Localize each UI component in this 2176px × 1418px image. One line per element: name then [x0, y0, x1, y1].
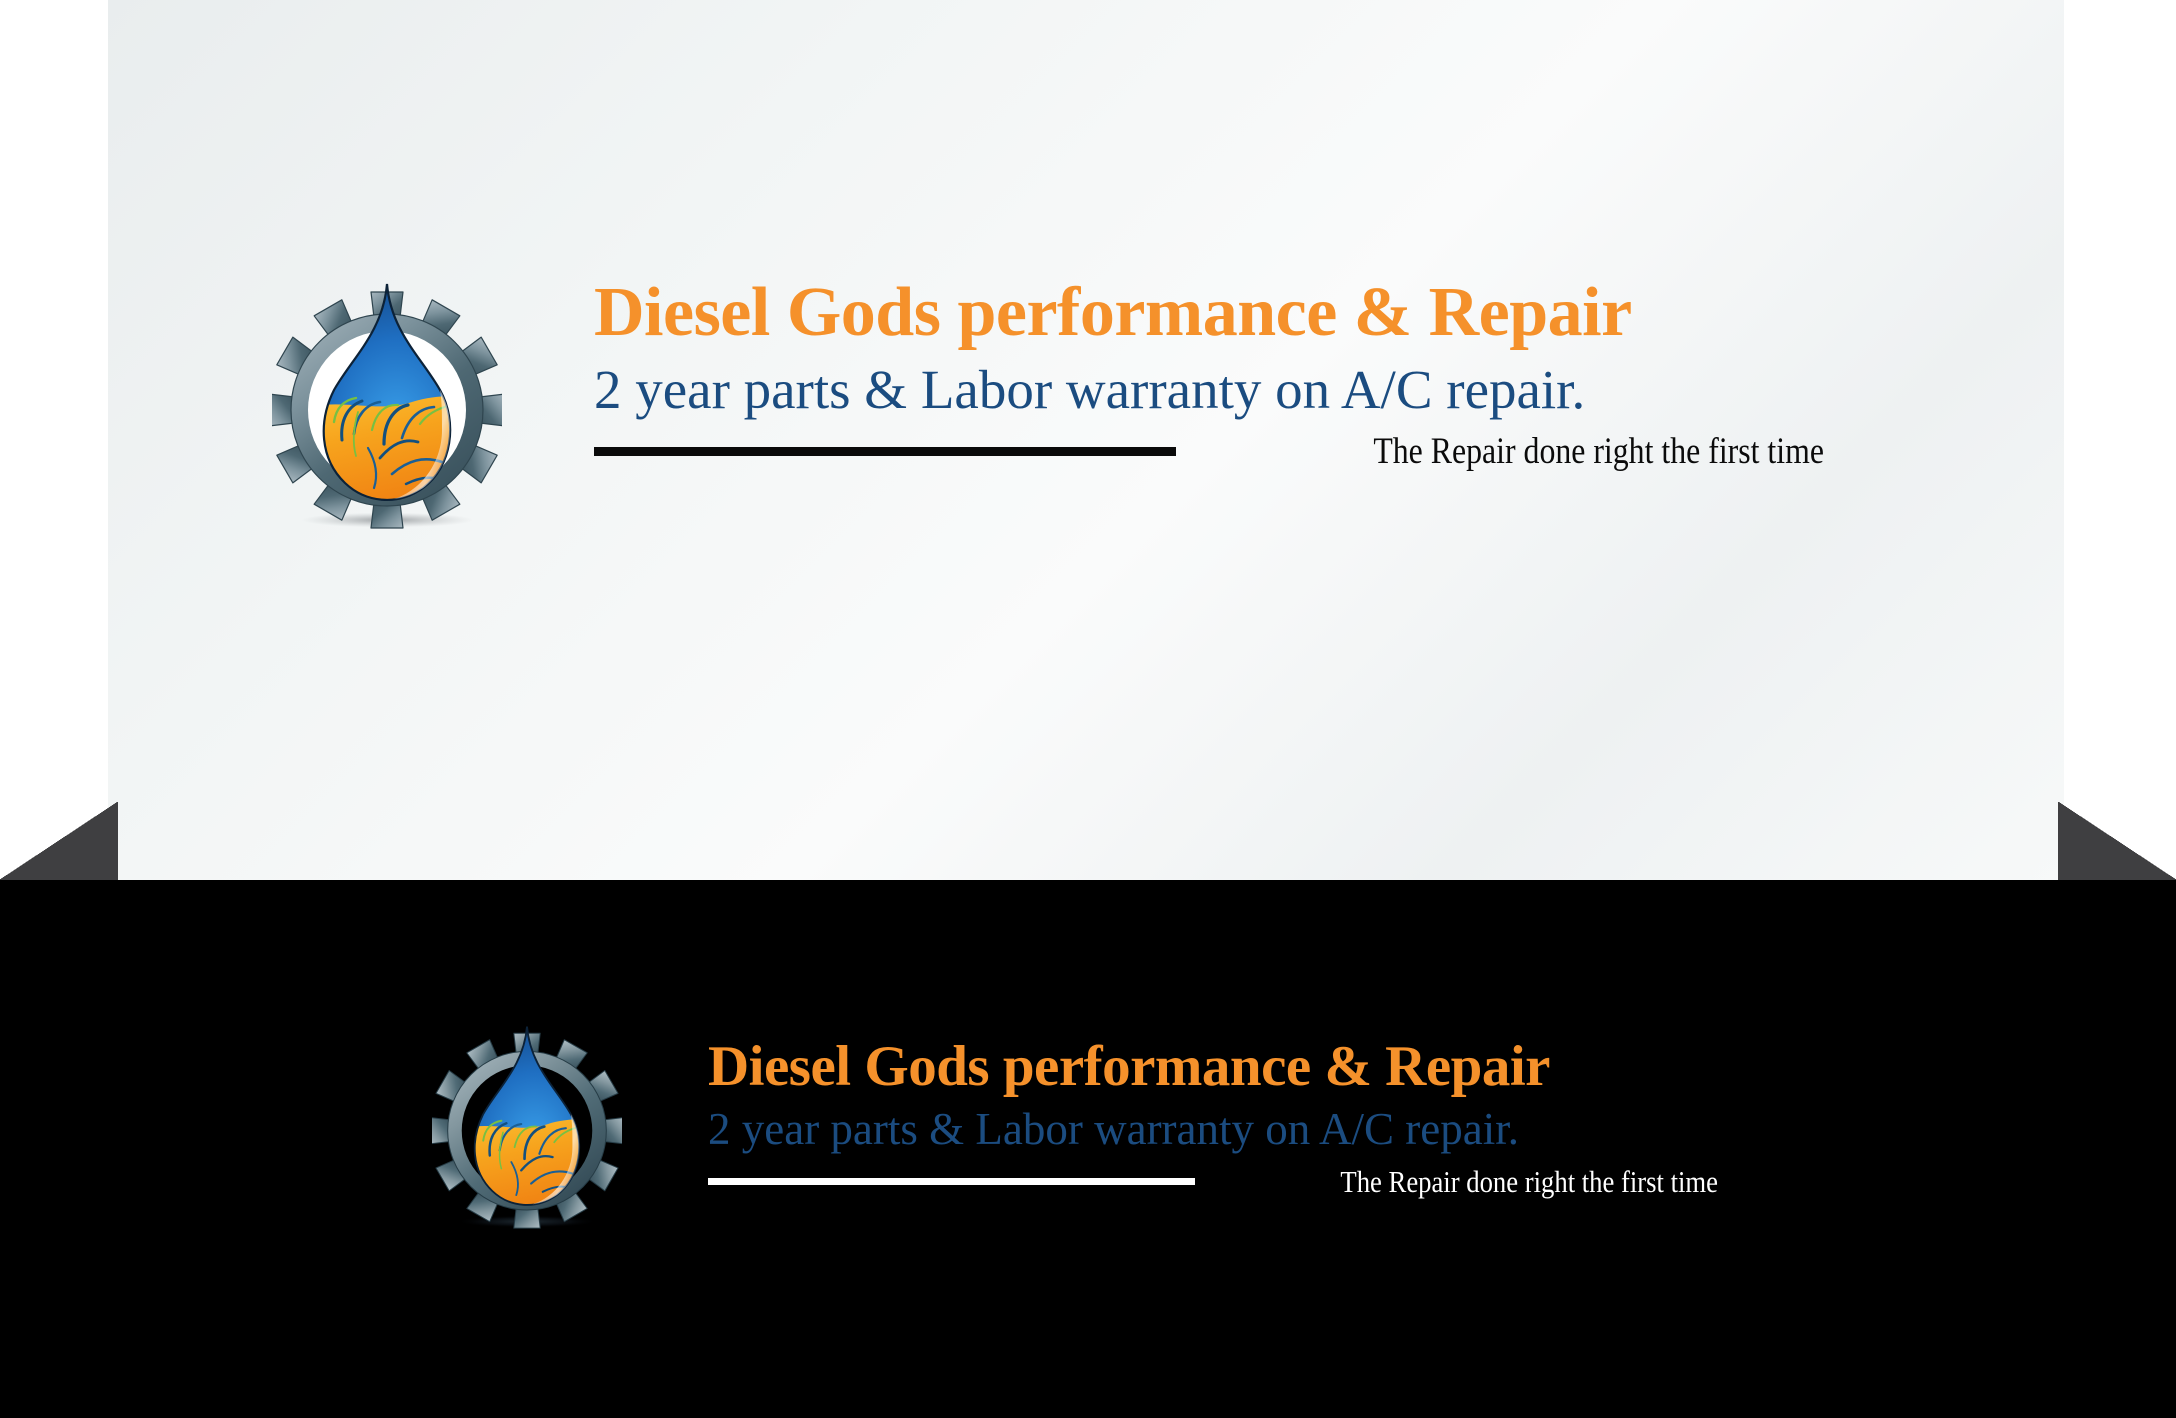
- brand-tagline-dark: The Repair done right the first time: [1268, 1166, 1718, 1197]
- brand-title-dark: Diesel Gods performance & Repair: [708, 1038, 1718, 1095]
- divider-rule: [594, 447, 1176, 456]
- wordmark-light: Diesel Gods performance & Repair 2 year …: [594, 262, 1824, 470]
- tagline-row: The Repair done right the first time: [594, 433, 1824, 470]
- ribbon-fold-left: [0, 802, 118, 880]
- logo-lockup-light: Diesel Gods performance & Repair 2 year …: [272, 262, 1824, 537]
- brand-title: Diesel Gods performance & Repair: [594, 278, 1824, 348]
- divider-rule-dark: [708, 1178, 1195, 1185]
- tagline-row-dark: The Repair done right the first time: [708, 1166, 1718, 1197]
- brand-tagline: The Repair done right the first time: [1267, 433, 1824, 470]
- gear-droplet-logo-mark: [272, 262, 502, 537]
- logo-presentation-board: Diesel Gods performance & Repair 2 year …: [0, 0, 2176, 1418]
- wordmark-dark: Diesel Gods performance & Repair 2 year …: [708, 1008, 1718, 1197]
- ribbon-fold-right: [2058, 802, 2176, 880]
- brand-subtitle: 2 year parts & Labor warranty on A/C rep…: [594, 362, 1824, 417]
- logo-lockup-dark: Diesel Gods performance & Repair 2 year …: [432, 1008, 1718, 1236]
- brand-subtitle-dark: 2 year parts & Labor warranty on A/C rep…: [708, 1107, 1718, 1152]
- gear-droplet-logo-mark-dark: [432, 1008, 622, 1236]
